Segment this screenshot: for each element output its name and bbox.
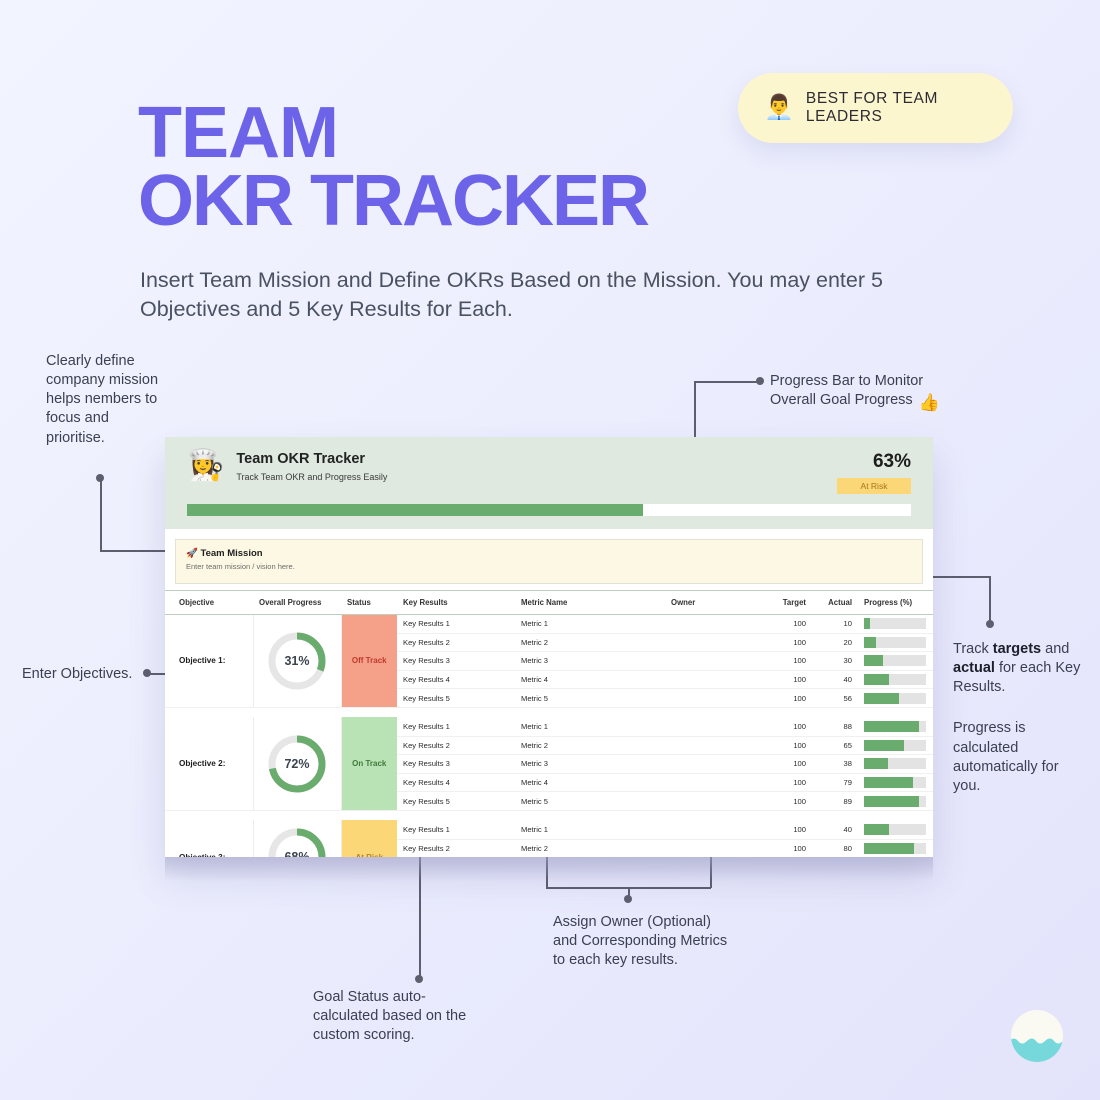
annotation-mission: Clearly define company mission helps nem… [46, 352, 166, 448]
metric-name-cell[interactable]: Metric 4 [515, 773, 665, 792]
owner-cell[interactable] [665, 755, 760, 774]
progress-bar-cell: 40% [858, 670, 933, 689]
key-result-cell[interactable]: Key Results 3 [397, 755, 515, 774]
owner-cell[interactable] [665, 615, 760, 634]
status-badge[interactable]: On Track [341, 717, 397, 810]
progress-fill [864, 693, 899, 704]
connector-dot-mission-top [96, 474, 104, 482]
progress-bar-cell: 30% [858, 652, 933, 671]
objective-percent: 72% [266, 733, 328, 795]
owner-cell[interactable] [665, 792, 760, 811]
overall-percent: 63% [837, 451, 911, 473]
owner-cell[interactable] [665, 652, 760, 671]
progress-bar-cell: 89% [858, 792, 933, 811]
progress-fill [864, 618, 870, 629]
col-key-results: Key Results [397, 591, 515, 615]
sheet-title: Team OKR Tracker [236, 451, 387, 467]
target-cell[interactable]: 100 [760, 839, 812, 857]
objective-name[interactable]: Objective 1: [165, 615, 253, 708]
metric-name-cell[interactable]: Metric 1 [515, 820, 665, 839]
table-row[interactable]: Objective 1:31%Off TrackKey Results 1Met… [165, 615, 933, 634]
actual-cell[interactable]: 65 [812, 736, 858, 755]
objective-donut: 31% [253, 615, 341, 708]
actual-cell[interactable]: 40 [812, 670, 858, 689]
progress-track [864, 674, 926, 685]
progress-fill [864, 824, 889, 835]
target-cell[interactable]: 100 [760, 670, 812, 689]
table-row[interactable]: Objective 2:72%On TrackKey Results 1Metr… [165, 717, 933, 736]
connector-dot-objectives-a [143, 669, 151, 677]
actual-cell[interactable]: 79 [812, 773, 858, 792]
key-result-cell[interactable]: Key Results 4 [397, 670, 515, 689]
annotation-owner: Assign Owner (Optional) and Correspondin… [553, 913, 733, 970]
progress-label: 65% [930, 741, 933, 750]
metric-name-cell[interactable]: Metric 4 [515, 670, 665, 689]
page-subtitle: Insert Team Mission and Define OKRs Base… [140, 266, 930, 324]
progress-fill [864, 674, 889, 685]
progress-fill [864, 758, 888, 769]
businessman-icon: 👨‍💼 [764, 96, 794, 120]
targets-paragraph-2: Progress is calculated automatically for… [953, 720, 1059, 793]
progress-bar-cell: 79% [858, 773, 933, 792]
target-cell[interactable]: 100 [760, 755, 812, 774]
progress-bar-cell: 38% [858, 755, 933, 774]
annotation-objectives: Enter Objectives. [22, 665, 142, 684]
owner-cell[interactable] [665, 670, 760, 689]
status-badge[interactable]: Off Track [341, 615, 397, 708]
actual-cell[interactable]: 10 [812, 615, 858, 634]
page-title: TEAM OKR TRACKER [138, 100, 648, 235]
owner-cell[interactable] [665, 689, 760, 708]
metric-name-cell[interactable]: Metric 2 [515, 736, 665, 755]
target-cell[interactable]: 100 [760, 689, 812, 708]
connector-targets-v [989, 576, 991, 624]
connector-dot-status-end [415, 975, 423, 983]
title-line-2: OKR TRACKER [138, 168, 648, 236]
progress-bar-cell: 80% [858, 839, 933, 857]
overall-progress-bar [187, 504, 911, 516]
objective-percent: 31% [266, 630, 328, 692]
progress-fill [864, 843, 914, 854]
owner-cell[interactable] [665, 717, 760, 736]
owner-cell[interactable] [665, 773, 760, 792]
metric-name-cell[interactable]: Metric 3 [515, 652, 665, 671]
sheet-header: 👩‍🍳 Team OKR Tracker Track Team OKR and … [165, 437, 933, 529]
badge-label: BEST FOR TEAM LEADERS [806, 90, 987, 126]
target-cell[interactable]: 100 [760, 792, 812, 811]
metric-name-cell[interactable]: Metric 1 [515, 615, 665, 634]
connector-dot-progress-top [756, 377, 764, 385]
progress-bar-cell: 40% [858, 820, 933, 839]
objective-separator [165, 810, 933, 820]
okr-spreadsheet[interactable]: 👩‍🍳 Team OKR Tracker Track Team OKR and … [165, 437, 933, 857]
key-result-cell[interactable]: Key Results 2 [397, 736, 515, 755]
metric-name-cell[interactable]: Metric 5 [515, 689, 665, 708]
owner-cell[interactable] [665, 820, 760, 839]
col-progress-pct: Progress (%) [858, 591, 933, 615]
annotation-status: Goal Status auto-calculated based on the… [313, 988, 483, 1045]
progress-track [864, 693, 926, 704]
annotation-progress-bar-text: Progress Bar to Monitor Overall Goal Pro… [770, 373, 923, 408]
actual-cell[interactable]: 88 [812, 717, 858, 736]
col-actual: Actual [812, 591, 858, 615]
okr-table-body[interactable]: Objective 1:31%Off TrackKey Results 1Met… [165, 615, 933, 858]
chef-icon: 👩‍🍳 [187, 451, 224, 481]
progress-fill [864, 740, 904, 751]
sheet-subtitle: Track Team OKR and Progress Easily [236, 472, 387, 482]
progress-track [864, 618, 926, 629]
overall-progress-fill [187, 504, 643, 516]
progress-bar-cell: 65% [858, 736, 933, 755]
connector-mission-v [100, 478, 102, 551]
progress-track [864, 655, 926, 666]
progress-label: 10% [930, 619, 933, 628]
best-for-badge: 👨‍💼 BEST FOR TEAM LEADERS [738, 73, 1013, 143]
target-cell[interactable]: 100 [760, 652, 812, 671]
connector-progress-h [694, 381, 760, 383]
target-cell[interactable]: 100 [760, 773, 812, 792]
progress-track [864, 777, 926, 788]
metric-name-cell[interactable]: Metric 2 [515, 633, 665, 652]
targets-bold-2: actual [953, 660, 995, 676]
key-result-cell[interactable]: Key Results 4 [397, 773, 515, 792]
target-cell[interactable]: 100 [760, 717, 812, 736]
progress-fill [864, 655, 883, 666]
progress-track [864, 843, 926, 854]
key-result-cell[interactable]: Key Results 5 [397, 689, 515, 708]
actual-cell[interactable]: 30 [812, 652, 858, 671]
col-metric-name: Metric Name [515, 591, 665, 615]
connector-dot-targets-b [986, 620, 994, 628]
objective-percent: 68% [266, 826, 328, 857]
progress-track [864, 758, 926, 769]
actual-cell[interactable]: 56 [812, 689, 858, 708]
progress-bar-cell: 56% [858, 689, 933, 708]
progress-fill [864, 721, 919, 732]
key-result-cell[interactable]: Key Results 2 [397, 633, 515, 652]
progress-bar-cell: 88% [858, 717, 933, 736]
progress-track [864, 796, 926, 807]
target-cell[interactable]: 100 [760, 615, 812, 634]
progress-fill [864, 796, 919, 807]
team-mission-placeholder[interactable]: Enter team mission / vision here. [186, 562, 912, 571]
table-row[interactable]: Objective 3:68%At RiskKey Results 1Metri… [165, 820, 933, 839]
objective-name[interactable]: Objective 2: [165, 717, 253, 810]
progress-label: 30% [930, 656, 933, 665]
metric-name-cell[interactable]: Metric 2 [515, 839, 665, 857]
progress-label: 88% [930, 722, 933, 731]
brand-logo-icon [1009, 1008, 1065, 1064]
metric-name-cell[interactable]: Metric 5 [515, 792, 665, 811]
col-objective: Objective [165, 591, 253, 615]
actual-cell[interactable]: 40 [812, 820, 858, 839]
col-owner: Owner [665, 591, 760, 615]
objective-donut: 72% [253, 717, 341, 810]
targets-bold-1: targets [993, 641, 1041, 657]
objective-donut: 68% [253, 820, 341, 857]
target-cell[interactable]: 100 [760, 633, 812, 652]
progress-label: 80% [930, 844, 933, 853]
thumbs-up-icon: 👍 [919, 392, 940, 414]
metric-name-cell[interactable]: Metric 3 [515, 755, 665, 774]
progress-track [864, 721, 926, 732]
progress-bar-cell: 20% [858, 633, 933, 652]
progress-fill [864, 637, 876, 648]
targets-pre: Track [953, 641, 993, 657]
owner-cell[interactable] [665, 839, 760, 857]
objective-name[interactable]: Objective 3: [165, 820, 253, 857]
col-overall-progress: Overall Progress [253, 591, 341, 615]
key-result-cell[interactable]: Key Results 5 [397, 792, 515, 811]
status-badge[interactable]: At Risk [341, 820, 397, 857]
owner-cell[interactable] [665, 736, 760, 755]
actual-cell[interactable]: 89 [812, 792, 858, 811]
key-result-cell[interactable]: Key Results 1 [397, 615, 515, 634]
owner-cell[interactable] [665, 633, 760, 652]
progress-label: 40% [930, 675, 933, 684]
sheet-bottom-fade [165, 857, 933, 881]
progress-label: 89% [930, 797, 933, 806]
metric-name-cell[interactable]: Metric 1 [515, 717, 665, 736]
key-result-cell[interactable]: Key Results 2 [397, 839, 515, 857]
progress-label: 20% [930, 638, 933, 647]
table-header-row: Objective Overall Progress Status Key Re… [165, 591, 933, 615]
progress-label: 38% [930, 759, 933, 768]
progress-track [864, 824, 926, 835]
key-result-cell[interactable]: Key Results 3 [397, 652, 515, 671]
connector-dot-owner-stem [624, 895, 632, 903]
actual-cell[interactable]: 20 [812, 633, 858, 652]
target-cell[interactable]: 100 [760, 820, 812, 839]
objective-separator [165, 707, 933, 717]
actual-cell[interactable]: 80 [812, 839, 858, 857]
target-cell[interactable]: 100 [760, 736, 812, 755]
annotation-progress-bar: Progress Bar to Monitor Overall Goal Pro… [770, 372, 960, 415]
col-target: Target [760, 591, 812, 615]
progress-fill [864, 777, 913, 788]
progress-label: 79% [930, 778, 933, 787]
team-mission-label: 🚀 Team Mission [186, 548, 912, 559]
key-result-cell[interactable]: Key Results 1 [397, 820, 515, 839]
progress-bar-cell: 10% [858, 615, 933, 634]
targets-mid: and [1041, 641, 1069, 657]
progress-label: 56% [930, 694, 933, 703]
progress-track [864, 740, 926, 751]
overall-status-badge: At Risk [837, 478, 911, 494]
col-status: Status [341, 591, 397, 615]
annotation-targets: Track targets and actual for each Key Re… [953, 640, 1085, 796]
key-result-cell[interactable]: Key Results 1 [397, 717, 515, 736]
actual-cell[interactable]: 38 [812, 755, 858, 774]
progress-label: 40% [930, 825, 933, 834]
progress-track [864, 637, 926, 648]
okr-table[interactable]: Objective Overall Progress Status Key Re… [165, 590, 933, 857]
team-mission-block[interactable]: 🚀 Team Mission Enter team mission / visi… [175, 539, 923, 584]
